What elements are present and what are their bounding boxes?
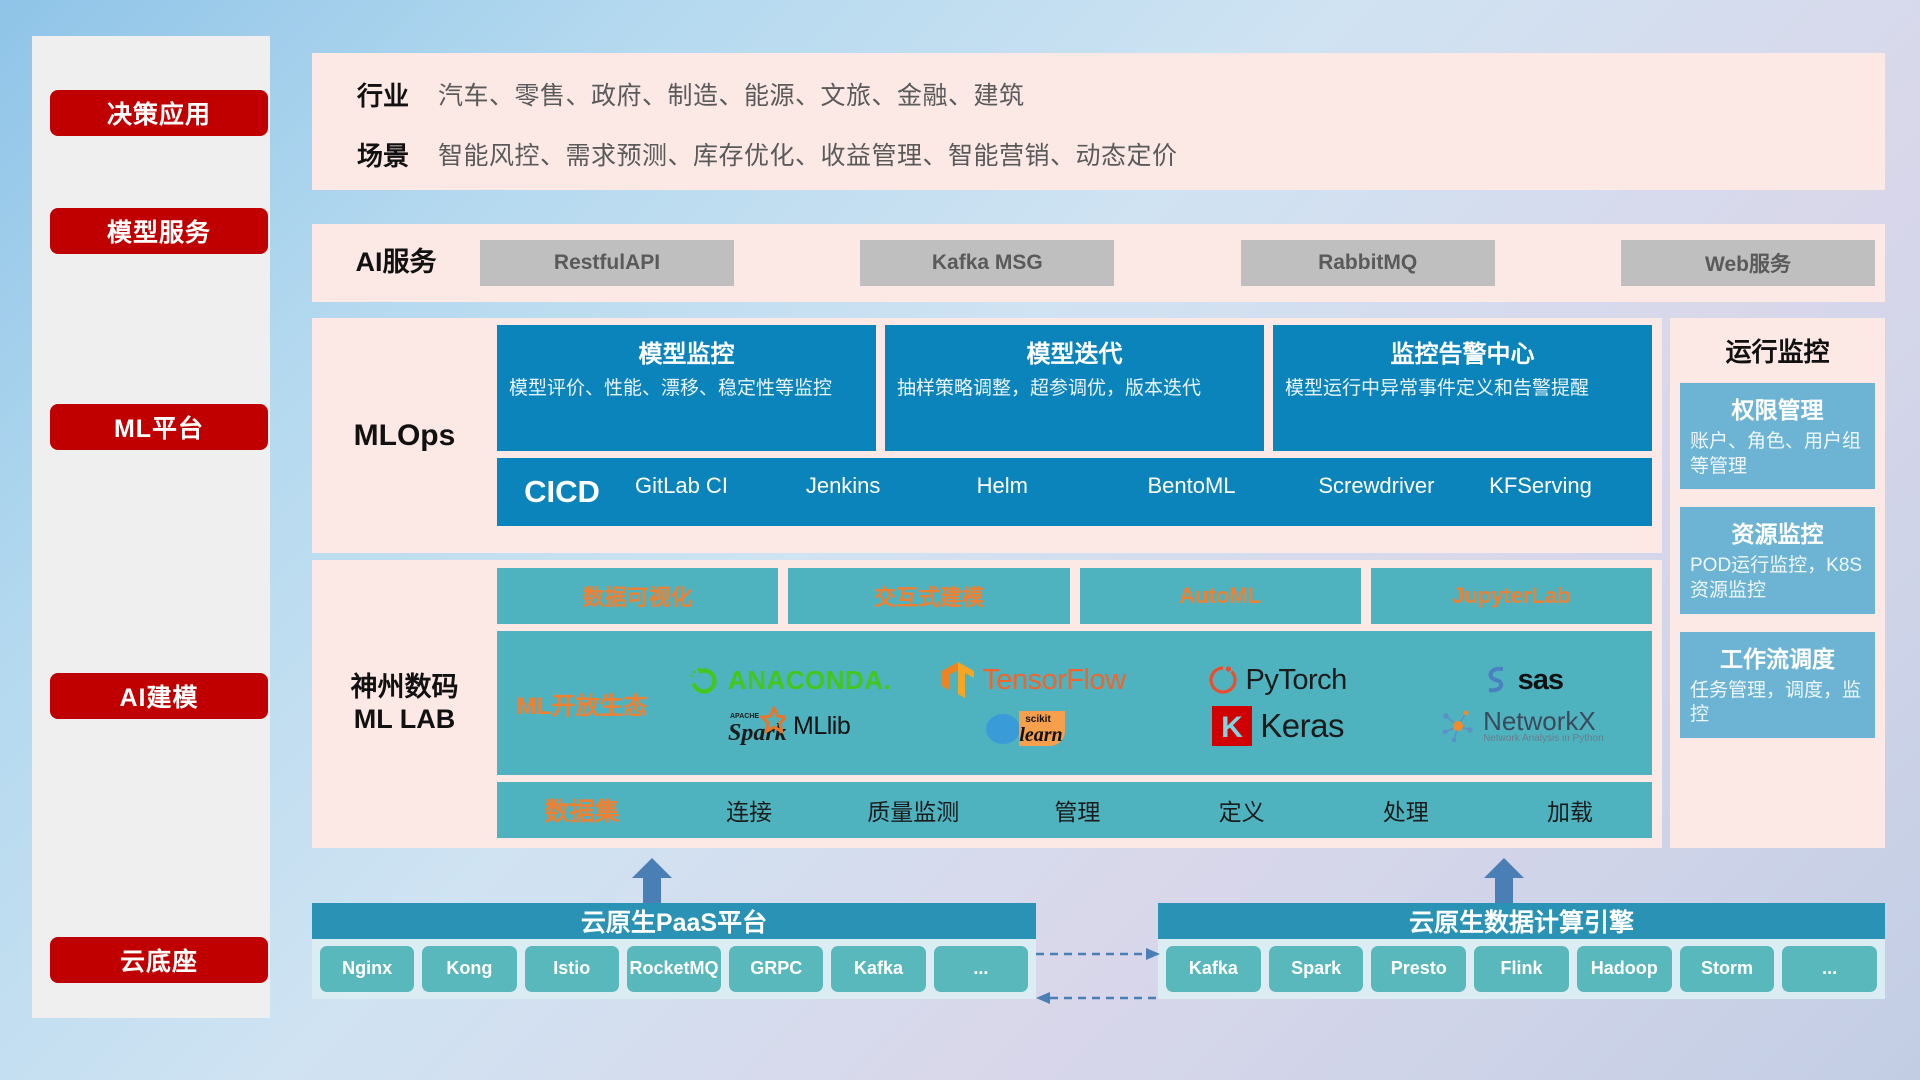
cicd-item-bentoml[interactable]: BentoML [1139, 458, 1310, 500]
industry-row: 行业 汽车、零售、政府、制造、能源、文旅、金融、建筑 [328, 69, 1885, 119]
stage-chip-decision[interactable]: 决策应用 [50, 90, 268, 136]
bidirectional-link-arrows [1034, 946, 1162, 1014]
industry-value: 汽车、零售、政府、制造、能源、文旅、金融、建筑 [438, 76, 1025, 112]
service-chip-rabbitmq[interactable]: RabbitMQ [1241, 240, 1495, 286]
service-chip-restfulapi[interactable]: RestfulAPI [480, 240, 734, 286]
card-desc: 任务管理，调度，监控 [1690, 679, 1865, 728]
dataset-item-connect[interactable]: 连接 [667, 793, 831, 827]
tool-chip-jupyterlab[interactable]: JupyterLab [1371, 568, 1652, 624]
card-title: 模型迭代 [897, 334, 1252, 369]
dataset-item-quality[interactable]: 质量监测 [831, 793, 995, 827]
cicd-item-helm[interactable]: Helm [969, 458, 1140, 500]
svg-text:APACHE: APACHE [730, 713, 759, 720]
card-desc: 账户、角色、用户组等管理 [1690, 430, 1865, 479]
mlops-card-list: 模型监控 模型评价、性能、漂移、稳定性等监控 模型迭代 抽样策略调整，超参调优，… [497, 325, 1652, 451]
logo-label: MLlib [793, 712, 850, 741]
dataset-row: 数据集 连接 质量监测 管理 定义 处理 加载 [497, 782, 1652, 838]
up-arrow-paas-icon [630, 858, 674, 904]
card-title: 模型监控 [509, 334, 864, 369]
cicd-item-gitlab-ci[interactable]: GitLab CI [627, 458, 798, 500]
stage-chip-ai-modeling[interactable]: AI建模 [50, 673, 268, 719]
modeling-label: 神州数码 ML LAB [312, 560, 497, 848]
modeling-band: 神州数码 ML LAB 数据可视化 交互式建模 AutoML JupyterLa… [312, 560, 1662, 848]
mlops-card-alert-center[interactable]: 监控告警中心 模型运行中异常事件定义和告警提醒 [1273, 325, 1652, 451]
logo-keras[interactable]: K Keras [1211, 705, 1344, 747]
tensorflow-icon [941, 661, 975, 699]
industry-label: 行业 [328, 76, 438, 113]
scenario-label: 场景 [328, 136, 438, 173]
scenario-value: 智能风控、需求预测、库存优化、收益管理、智能营销、动态定价 [438, 136, 1178, 172]
logo-scikit-learn[interactable]: scikit learn [983, 703, 1083, 749]
cicd-bar: CICD GitLab CI Jenkins Helm BentoML Scre… [497, 458, 1652, 526]
card-title: 资源监控 [1690, 515, 1865, 549]
mlops-card-model-iteration[interactable]: 模型迭代 抽样策略调整，超参调优，版本迭代 [885, 325, 1264, 451]
ai-service-list: RestfulAPI Kafka MSG RabbitMQ Web服务 [480, 240, 1885, 286]
tool-chip-interactive-modeling[interactable]: 交互式建模 [788, 568, 1069, 624]
learn-word: learn [1020, 724, 1063, 746]
svg-text:K: K [1221, 711, 1243, 744]
service-chip-label: RestfulAPI [554, 251, 660, 275]
cicd-item-jenkins[interactable]: Jenkins [798, 458, 969, 500]
logo-sublabel: Network Analysis in Python [1483, 734, 1604, 744]
engine-chip-more[interactable]: ... [1782, 946, 1877, 992]
stage-chip-cloud-base[interactable]: 云底座 [50, 937, 268, 983]
stage-label: 决策应用 [107, 95, 211, 131]
cloud-chip-istio[interactable]: Istio [525, 946, 619, 992]
dataset-item-define[interactable]: 定义 [1160, 793, 1324, 827]
logo-networkx[interactable]: NetworkX Network Analysis in Python [1440, 708, 1604, 744]
ai-service-label: AI服务 [312, 224, 480, 302]
stage-rail [32, 36, 270, 1018]
engine-chip-flink[interactable]: Flink [1474, 946, 1569, 992]
cloud-paas-title: 云原生PaaS平台 [312, 903, 1036, 939]
logo-label: NetworkX [1483, 708, 1604, 734]
tool-chip-automl[interactable]: AutoML [1080, 568, 1361, 624]
monitoring-card-permissions[interactable]: 权限管理 账户、角色、用户组等管理 [1680, 383, 1875, 489]
logo-sas[interactable]: sas [1481, 664, 1563, 697]
logo-tensorflow[interactable]: TensorFlow [941, 661, 1125, 699]
card-title: 监控告警中心 [1285, 334, 1640, 369]
stage-label: 云底座 [120, 942, 198, 978]
logo-label: PyTorch [1245, 664, 1346, 697]
cicd-title: CICD [497, 474, 627, 510]
monitoring-card-workflow[interactable]: 工作流调度 任务管理，调度，监控 [1680, 632, 1875, 738]
cloud-chip-kafka[interactable]: Kafka [831, 946, 925, 992]
service-chip-label: RabbitMQ [1318, 251, 1417, 275]
dataset-item-load[interactable]: 加载 [1488, 793, 1652, 827]
card-desc: 模型评价、性能、漂移、稳定性等监控 [509, 376, 864, 402]
modeling-content: 数据可视化 交互式建模 AutoML JupyterLab ML开放生态 A [497, 560, 1662, 848]
stage-chip-model-service[interactable]: 模型服务 [50, 208, 268, 254]
logo-spark-mllib[interactable]: APACHE Spark MLlib [728, 706, 850, 746]
card-desc: 抽样策略调整，超参调优，版本迭代 [897, 376, 1252, 402]
engine-chip-hadoop[interactable]: Hadoop [1577, 946, 1672, 992]
logo-label: Keras [1260, 707, 1344, 745]
scikit-learn-icon: scikit learn [983, 703, 1083, 749]
ecosystem-row: ML开放生态 ANACONDA. [497, 631, 1652, 775]
monitoring-card-resources[interactable]: 资源监控 POD运行监控，K8S资源监控 [1680, 507, 1875, 613]
cloud-chip-kong[interactable]: Kong [422, 946, 516, 992]
dataset-title: 数据集 [497, 792, 667, 828]
dataset-item-process[interactable]: 处理 [1324, 793, 1488, 827]
mlops-label: MLOps [312, 318, 497, 553]
logo-label: ANACONDA. [728, 665, 891, 696]
architecture-main: 行业 汽车、零售、政府、制造、能源、文旅、金融、建筑 场景 智能风控、需求预测、… [306, 0, 1920, 1080]
tool-chip-list: 数据可视化 交互式建模 AutoML JupyterLab [497, 568, 1652, 624]
arrow-right-icon [1146, 948, 1160, 960]
cloud-paas-chip-list: Nginx Kong Istio RocketMQ GRPC Kafka ... [312, 939, 1036, 999]
stage-chip-ml-platform[interactable]: ML平台 [50, 404, 268, 450]
logo-label: TensorFlow [982, 664, 1125, 697]
up-arrow-engine-icon [1482, 858, 1526, 904]
modeling-label-line1: 神州数码 [351, 672, 459, 704]
service-chip-label: Kafka MSG [932, 251, 1043, 275]
logo-anaconda[interactable]: ANACONDA. [687, 663, 891, 697]
sas-icon [1481, 664, 1511, 696]
card-desc: 模型运行中异常事件定义和告警提醒 [1285, 376, 1640, 402]
monitoring-band: 运行监控 权限管理 账户、角色、用户组等管理 资源监控 POD运行监控，K8S资… [1670, 318, 1885, 848]
logo-label: sas [1518, 664, 1563, 697]
card-title: 权限管理 [1690, 391, 1865, 425]
stage-label: ML平台 [114, 409, 204, 445]
ecosystem-label: ML开放生态 [497, 686, 667, 721]
cloud-chip-more[interactable]: ... [934, 946, 1028, 992]
mlops-band: MLOps 模型监控 模型评价、性能、漂移、稳定性等监控 模型迭代 抽样策略调整… [312, 318, 1662, 553]
cloud-engine-title: 云原生数据计算引擎 [1158, 903, 1885, 939]
application-band: 行业 汽车、零售、政府、制造、能源、文旅、金融、建筑 场景 智能风控、需求预测、… [312, 53, 1885, 190]
networkx-icon [1440, 708, 1476, 744]
card-title: 工作流调度 [1690, 640, 1865, 674]
spark-icon: APACHE Spark [728, 706, 786, 746]
modeling-label-line2: ML LAB [354, 704, 456, 736]
cloud-paas-group: 云原生PaaS平台 Nginx Kong Istio RocketMQ GRPC… [312, 903, 1036, 999]
dataset-item-manage[interactable]: 管理 [995, 793, 1159, 827]
logo-pytorch[interactable]: PyTorch [1208, 663, 1346, 697]
arrow-left-icon [1036, 992, 1050, 1004]
ecosystem-logo-grid: ANACONDA. TensorFlow [667, 657, 1652, 749]
scenario-row: 场景 智能风控、需求预测、库存优化、收益管理、智能营销、动态定价 [328, 129, 1885, 179]
cloud-chip-grpc[interactable]: GRPC [729, 946, 823, 992]
cloud-chip-rocketmq[interactable]: RocketMQ [627, 946, 721, 992]
stage-label: 模型服务 [107, 213, 211, 249]
monitoring-title: 运行监控 [1680, 332, 1875, 369]
card-desc: POD运行监控，K8S资源监控 [1690, 554, 1865, 603]
cicd-item-kfserving[interactable]: KFServing [1481, 458, 1652, 500]
cloud-chip-nginx[interactable]: Nginx [320, 946, 414, 992]
cicd-item-screwdriver[interactable]: Screwdriver [1310, 458, 1481, 500]
tool-chip-data-visualization[interactable]: 数据可视化 [497, 568, 778, 624]
stage-label: AI建模 [119, 678, 198, 714]
engine-chip-spark[interactable]: Spark [1269, 946, 1364, 992]
cloud-engine-chip-list: Kafka Spark Presto Flink Hadoop Storm ..… [1158, 939, 1885, 999]
service-chip-kafka-msg[interactable]: Kafka MSG [860, 240, 1114, 286]
mlops-content: 模型监控 模型评价、性能、漂移、稳定性等监控 模型迭代 抽样策略调整，超参调优，… [497, 318, 1662, 553]
anaconda-icon [687, 663, 721, 697]
engine-chip-kafka[interactable]: Kafka [1166, 946, 1261, 992]
svg-text:Spark: Spark [728, 720, 786, 746]
engine-chip-presto[interactable]: Presto [1371, 946, 1466, 992]
engine-chip-storm[interactable]: Storm [1680, 946, 1775, 992]
cloud-engine-group: 云原生数据计算引擎 Kafka Spark Presto Flink Hadoo… [1158, 903, 1885, 999]
keras-icon: K [1211, 705, 1253, 747]
mlops-card-model-monitoring[interactable]: 模型监控 模型评价、性能、漂移、稳定性等监控 [497, 325, 876, 451]
service-chip-label: Web服务 [1705, 248, 1791, 278]
service-chip-web-service[interactable]: Web服务 [1621, 240, 1875, 286]
ai-service-band: AI服务 RestfulAPI Kafka MSG RabbitMQ Web服务 [312, 224, 1885, 302]
pytorch-icon [1208, 663, 1238, 697]
